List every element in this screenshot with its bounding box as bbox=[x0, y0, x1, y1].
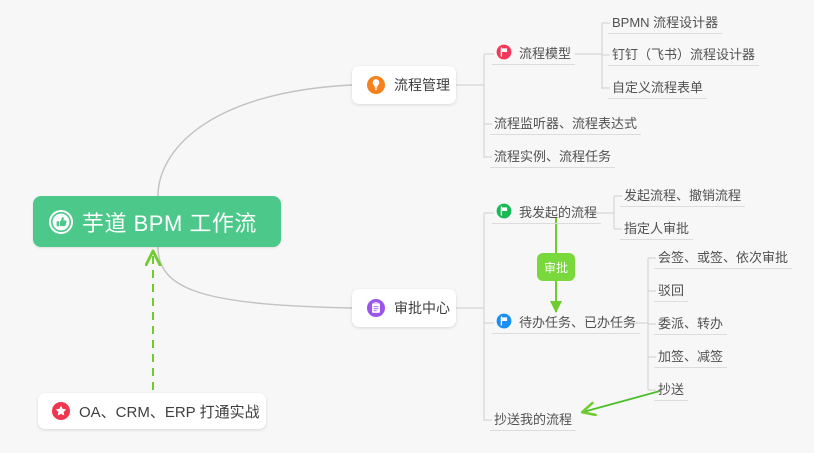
flag-icon bbox=[496, 203, 512, 219]
leaf-node-delegate-transfer[interactable]: 委派、转办 bbox=[654, 313, 727, 335]
edge-root-to-approval-center bbox=[158, 247, 352, 308]
branch-node-process-management[interactable]: 流程管理 bbox=[352, 66, 456, 104]
leaf-node-assigned-approver[interactable]: 指定人审批 bbox=[620, 218, 693, 240]
leaf-label-countersign: 会签、或签、依次审批 bbox=[658, 247, 788, 266]
edge-cc-to-cc-my-process bbox=[583, 391, 660, 412]
leaf-node-add-remove-sign[interactable]: 加签、减签 bbox=[654, 346, 727, 368]
leaf-node-countersign[interactable]: 会签、或签、依次审批 bbox=[654, 247, 792, 269]
leaf-node-custom-form[interactable]: 自定义流程表单 bbox=[608, 77, 707, 99]
leaf-label-bpmn-designer: BPMN 流程设计器 bbox=[612, 12, 718, 31]
leaf-node-my-started-process[interactable]: 我发起的流程 bbox=[492, 202, 601, 224]
lightbulb-pin-icon bbox=[366, 75, 386, 95]
leaf-node-process-listener[interactable]: 流程监听器、流程表达式 bbox=[490, 113, 641, 135]
leaf-node-cc[interactable]: 抄送 bbox=[654, 379, 688, 401]
flag-icon bbox=[496, 313, 512, 329]
branch-label-process-management: 流程管理 bbox=[394, 75, 450, 95]
leaf-label-todo-done-tasks: 待办任务、已办任务 bbox=[519, 312, 636, 331]
leaf-node-dingtalk-designer[interactable]: 钉钉（飞书）流程设计器 bbox=[608, 44, 759, 66]
star-icon bbox=[51, 401, 71, 421]
leaf-label-assigned-approver: 指定人审批 bbox=[624, 218, 689, 237]
leaf-label-cc-my-process: 抄送我的流程 bbox=[494, 409, 572, 428]
flow-badge-label: 审批 bbox=[544, 259, 568, 276]
leaf-label-process-instance: 流程实例、流程任务 bbox=[494, 146, 611, 165]
root-label: 芋道 BPM 工作流 bbox=[82, 206, 257, 238]
branch-node-approval-center[interactable]: 审批中心 bbox=[352, 289, 456, 327]
leaf-node-reject[interactable]: 驳回 bbox=[654, 280, 688, 302]
edge-root-to-process-management bbox=[158, 85, 352, 196]
thumbs-up-icon bbox=[49, 210, 73, 234]
leaf-label-custom-form: 自定义流程表单 bbox=[612, 77, 703, 96]
node-integration-practice[interactable]: OA、CRM、ERP 打通实战 bbox=[38, 393, 266, 429]
leaf-label-process-model: 流程模型 bbox=[519, 43, 571, 62]
leaf-label-delegate-transfer: 委派、转办 bbox=[658, 313, 723, 332]
flow-badge-approval[interactable]: 审批 bbox=[537, 253, 575, 281]
leaf-label-add-remove-sign: 加签、减签 bbox=[658, 346, 723, 365]
root-node[interactable]: 芋道 BPM 工作流 bbox=[33, 196, 281, 247]
leaf-label-start-cancel-process: 发起流程、撤销流程 bbox=[624, 185, 741, 204]
clipboard-icon bbox=[366, 298, 386, 318]
leaf-label-dingtalk-designer: 钉钉（飞书）流程设计器 bbox=[612, 44, 755, 63]
branch-label-approval-center: 审批中心 bbox=[394, 298, 450, 318]
flag-icon bbox=[496, 44, 512, 60]
leaf-node-bpmn-designer[interactable]: BPMN 流程设计器 bbox=[608, 12, 722, 34]
leaf-node-process-instance[interactable]: 流程实例、流程任务 bbox=[490, 146, 615, 168]
leaf-node-todo-done-tasks[interactable]: 待办任务、已办任务 bbox=[492, 312, 640, 334]
leaf-label-reject: 驳回 bbox=[658, 280, 684, 299]
leaf-label-process-listener: 流程监听器、流程表达式 bbox=[494, 113, 637, 132]
label-integration-practice: OA、CRM、ERP 打通实战 bbox=[79, 401, 260, 422]
mindmap-canvas: 芋道 BPM 工作流 流程管理 流程模型 BPMN 流程设计器 钉钉（飞书 bbox=[0, 0, 814, 453]
leaf-label-my-started-process: 我发起的流程 bbox=[519, 202, 597, 221]
leaf-node-start-cancel-process[interactable]: 发起流程、撤销流程 bbox=[620, 185, 745, 207]
leaf-node-process-model[interactable]: 流程模型 bbox=[492, 43, 575, 65]
leaf-node-cc-my-process[interactable]: 抄送我的流程 bbox=[490, 409, 576, 431]
leaf-label-cc: 抄送 bbox=[658, 379, 684, 398]
